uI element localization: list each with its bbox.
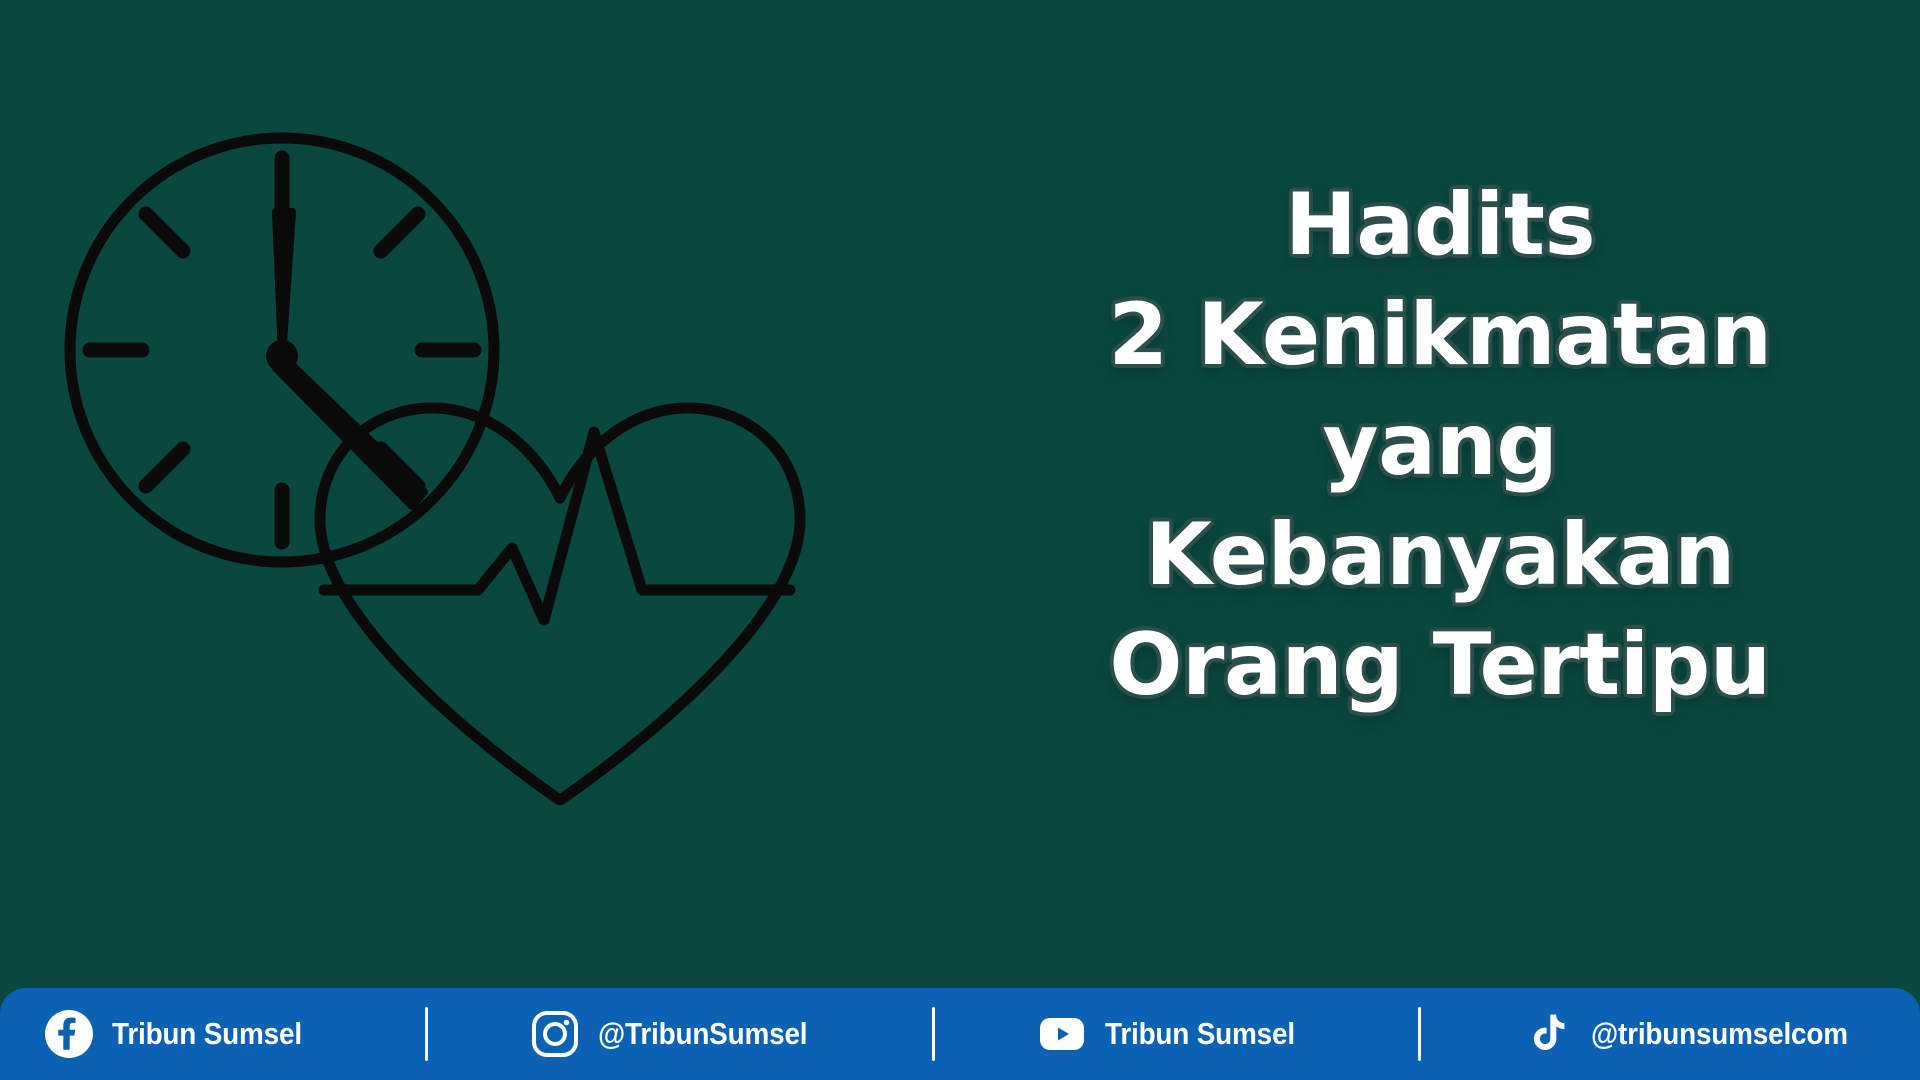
social-label-tiktok: @tribunsumselcom: [1591, 1016, 1848, 1052]
headline-line-3: yang: [1000, 390, 1880, 500]
footer-divider-2: [932, 1007, 935, 1061]
social-footer-bar: Tribun Sumsel @TribunSumsel: [0, 988, 1920, 1080]
social-label-youtube: Tribun Sumsel: [1105, 1016, 1295, 1052]
clock-icon: [70, 138, 494, 562]
headline-line-5: Orang Tertipu: [1000, 610, 1880, 720]
illustration-graphic: [20, 100, 860, 960]
facebook-icon: [44, 1009, 94, 1059]
social-item-tiktok[interactable]: @tribunsumselcom: [1523, 1009, 1876, 1059]
page-title: Hadits 2 Kenikmatan yang Kebanyakan Oran…: [1000, 170, 1880, 720]
footer-divider-1: [425, 1007, 428, 1061]
headline-line-4: Kebanyakan: [1000, 500, 1880, 610]
poster-canvas: Hadits 2 Kenikmatan yang Kebanyakan Oran…: [0, 0, 1920, 1080]
headline-line-2: 2 Kenikmatan: [1000, 280, 1880, 390]
social-item-facebook[interactable]: Tribun Sumsel: [44, 1009, 323, 1059]
instagram-icon: [530, 1009, 580, 1059]
headline-line-1: Hadits: [1000, 170, 1880, 280]
social-item-youtube[interactable]: Tribun Sumsel: [1037, 1009, 1316, 1059]
social-item-instagram[interactable]: @TribunSumsel: [530, 1009, 831, 1059]
social-label-facebook: Tribun Sumsel: [112, 1016, 302, 1052]
footer-divider-3: [1418, 1007, 1421, 1061]
social-label-instagram: @TribunSumsel: [598, 1016, 807, 1052]
tiktok-icon: [1523, 1009, 1573, 1059]
youtube-icon: [1037, 1009, 1087, 1059]
